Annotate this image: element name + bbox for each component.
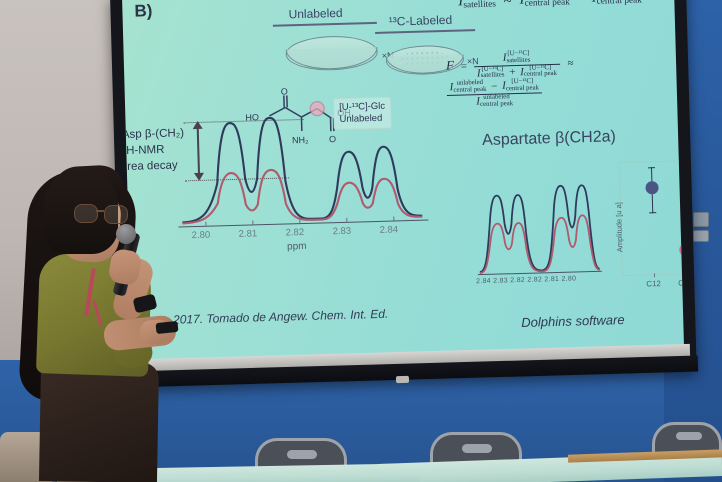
eq2-frac-right: I unlabeled central peak − I [U−¹³C] cen… — [447, 79, 543, 110]
ppm-ticklabel-4: 2.84 — [379, 224, 398, 236]
eq2-lhs: F — [446, 57, 454, 72]
header-unlabeled-rule — [273, 22, 377, 27]
panel-label-b: B) — [134, 1, 153, 21]
glasses-bridge — [96, 210, 104, 212]
ppm-tick-2 — [252, 220, 253, 224]
right-panel-title: Aspartate β(CH2a) — [482, 128, 616, 150]
eq2-num1-sub: satellites — [506, 57, 530, 64]
errorbar-c12-cap-top — [648, 167, 655, 169]
eq2-frac-right-num: I unlabeled central peak − I [U−¹³C] cen… — [447, 79, 543, 95]
ppm-ticklabel-0: 2.80 — [192, 230, 211, 242]
wall-outlet-plate — [693, 212, 709, 227]
software-note: Dolphins software — [521, 312, 625, 330]
ppm-tick-3 — [299, 219, 300, 223]
ppm-tick-4 — [346, 218, 347, 222]
chair-right-handle — [676, 432, 702, 440]
header-c13-rule — [375, 29, 475, 34]
ppm-ticklabel-1: 2.81 — [239, 228, 258, 240]
mini-trace-labeled — [478, 215, 599, 273]
annotation-line2: ¹H-NMR — [122, 143, 165, 160]
eq2-num2b-sub: central peak — [506, 85, 539, 93]
glasses-icon — [74, 204, 126, 222]
amp-xtick-c12 — [654, 273, 655, 277]
eq1-lhs-sub: satellites — [463, 1, 496, 11]
header-c13-labeled: ¹³C-Labeled — [389, 13, 453, 29]
eq2-frac-right-den: I unlabeled central peak — [447, 92, 543, 109]
wall-data-plate — [693, 230, 709, 242]
mini-trace-unlabeled — [478, 185, 600, 272]
ppm-tick-1 — [205, 222, 206, 226]
amp-xticklabel-c12: C12 — [646, 279, 661, 288]
chair-left-handle — [287, 450, 317, 459]
errorbar-c12-cap-bottom — [649, 212, 656, 214]
petri-dish-unlabeled-base — [286, 47, 379, 71]
eq2-frac-left: I [U−¹³C] satellites I [U−¹³C] satellite… — [473, 50, 560, 81]
header-unlabeled: Unlabeled — [288, 6, 342, 22]
eq2-num2-minus: − — [491, 80, 498, 92]
nmr-spectrum-mini — [471, 161, 604, 283]
eq1-approx: ≈ — [503, 0, 512, 8]
eq1-t1-sub: central peak — [525, 0, 570, 9]
eq2-den2-sub: central peak — [480, 101, 513, 109]
ppm-tick-5 — [393, 216, 394, 220]
eq2-num2a-sub: central peak — [453, 87, 486, 95]
ppm-ticklabel-3: 2.83 — [333, 226, 352, 238]
equation-satellites: I [U−¹³C] satellites ≈ I unlabeled centr… — [458, 0, 642, 11]
slide-content: (2017) B) Unlabeled ¹³C-Labeled ×N ×N I … — [122, 0, 684, 368]
amplitude-axis-label: Amplitude [u a] — [614, 202, 624, 252]
ppm-ticklabel-2: 2.82 — [286, 227, 305, 239]
presentation-clicker — [155, 321, 178, 334]
eq1-minus: − — [576, 0, 585, 6]
eq2-den1-plus: + — [509, 66, 516, 78]
screen-center-nub — [396, 376, 409, 383]
glasses-lens-left — [74, 204, 98, 223]
projection-screen: (2017) B) Unlabeled ¹³C-Labeled ×N ×N I … — [122, 0, 684, 368]
eq1-t2-sub: central peak — [597, 0, 642, 7]
presentation-photo: (2017) B) Unlabeled ¹³C-Labeled ×N ×N I … — [0, 0, 722, 482]
chair-center-handle — [462, 444, 492, 453]
mini-ppm-ticklabels: 2.84 2.83 2.82 2.82 2.81 2.80 — [476, 275, 576, 285]
equation-fraction-F: F = I [U−¹³C] satellites I [U−¹³C] satel… — [446, 47, 677, 110]
slide-credit: 2017. Tomado de Angew. Chem. Int. Ed. — [173, 307, 389, 327]
eq2-equals: = — [461, 60, 468, 72]
nmr-spectrum-main — [169, 87, 433, 234]
presenter-skirt — [39, 361, 159, 482]
ppm-axis-label: ppm — [287, 241, 307, 253]
glasses-lens-right — [104, 205, 128, 224]
eq2-approx: ≈ — [567, 57, 573, 69]
annotation-line3: area decay — [122, 159, 178, 176]
